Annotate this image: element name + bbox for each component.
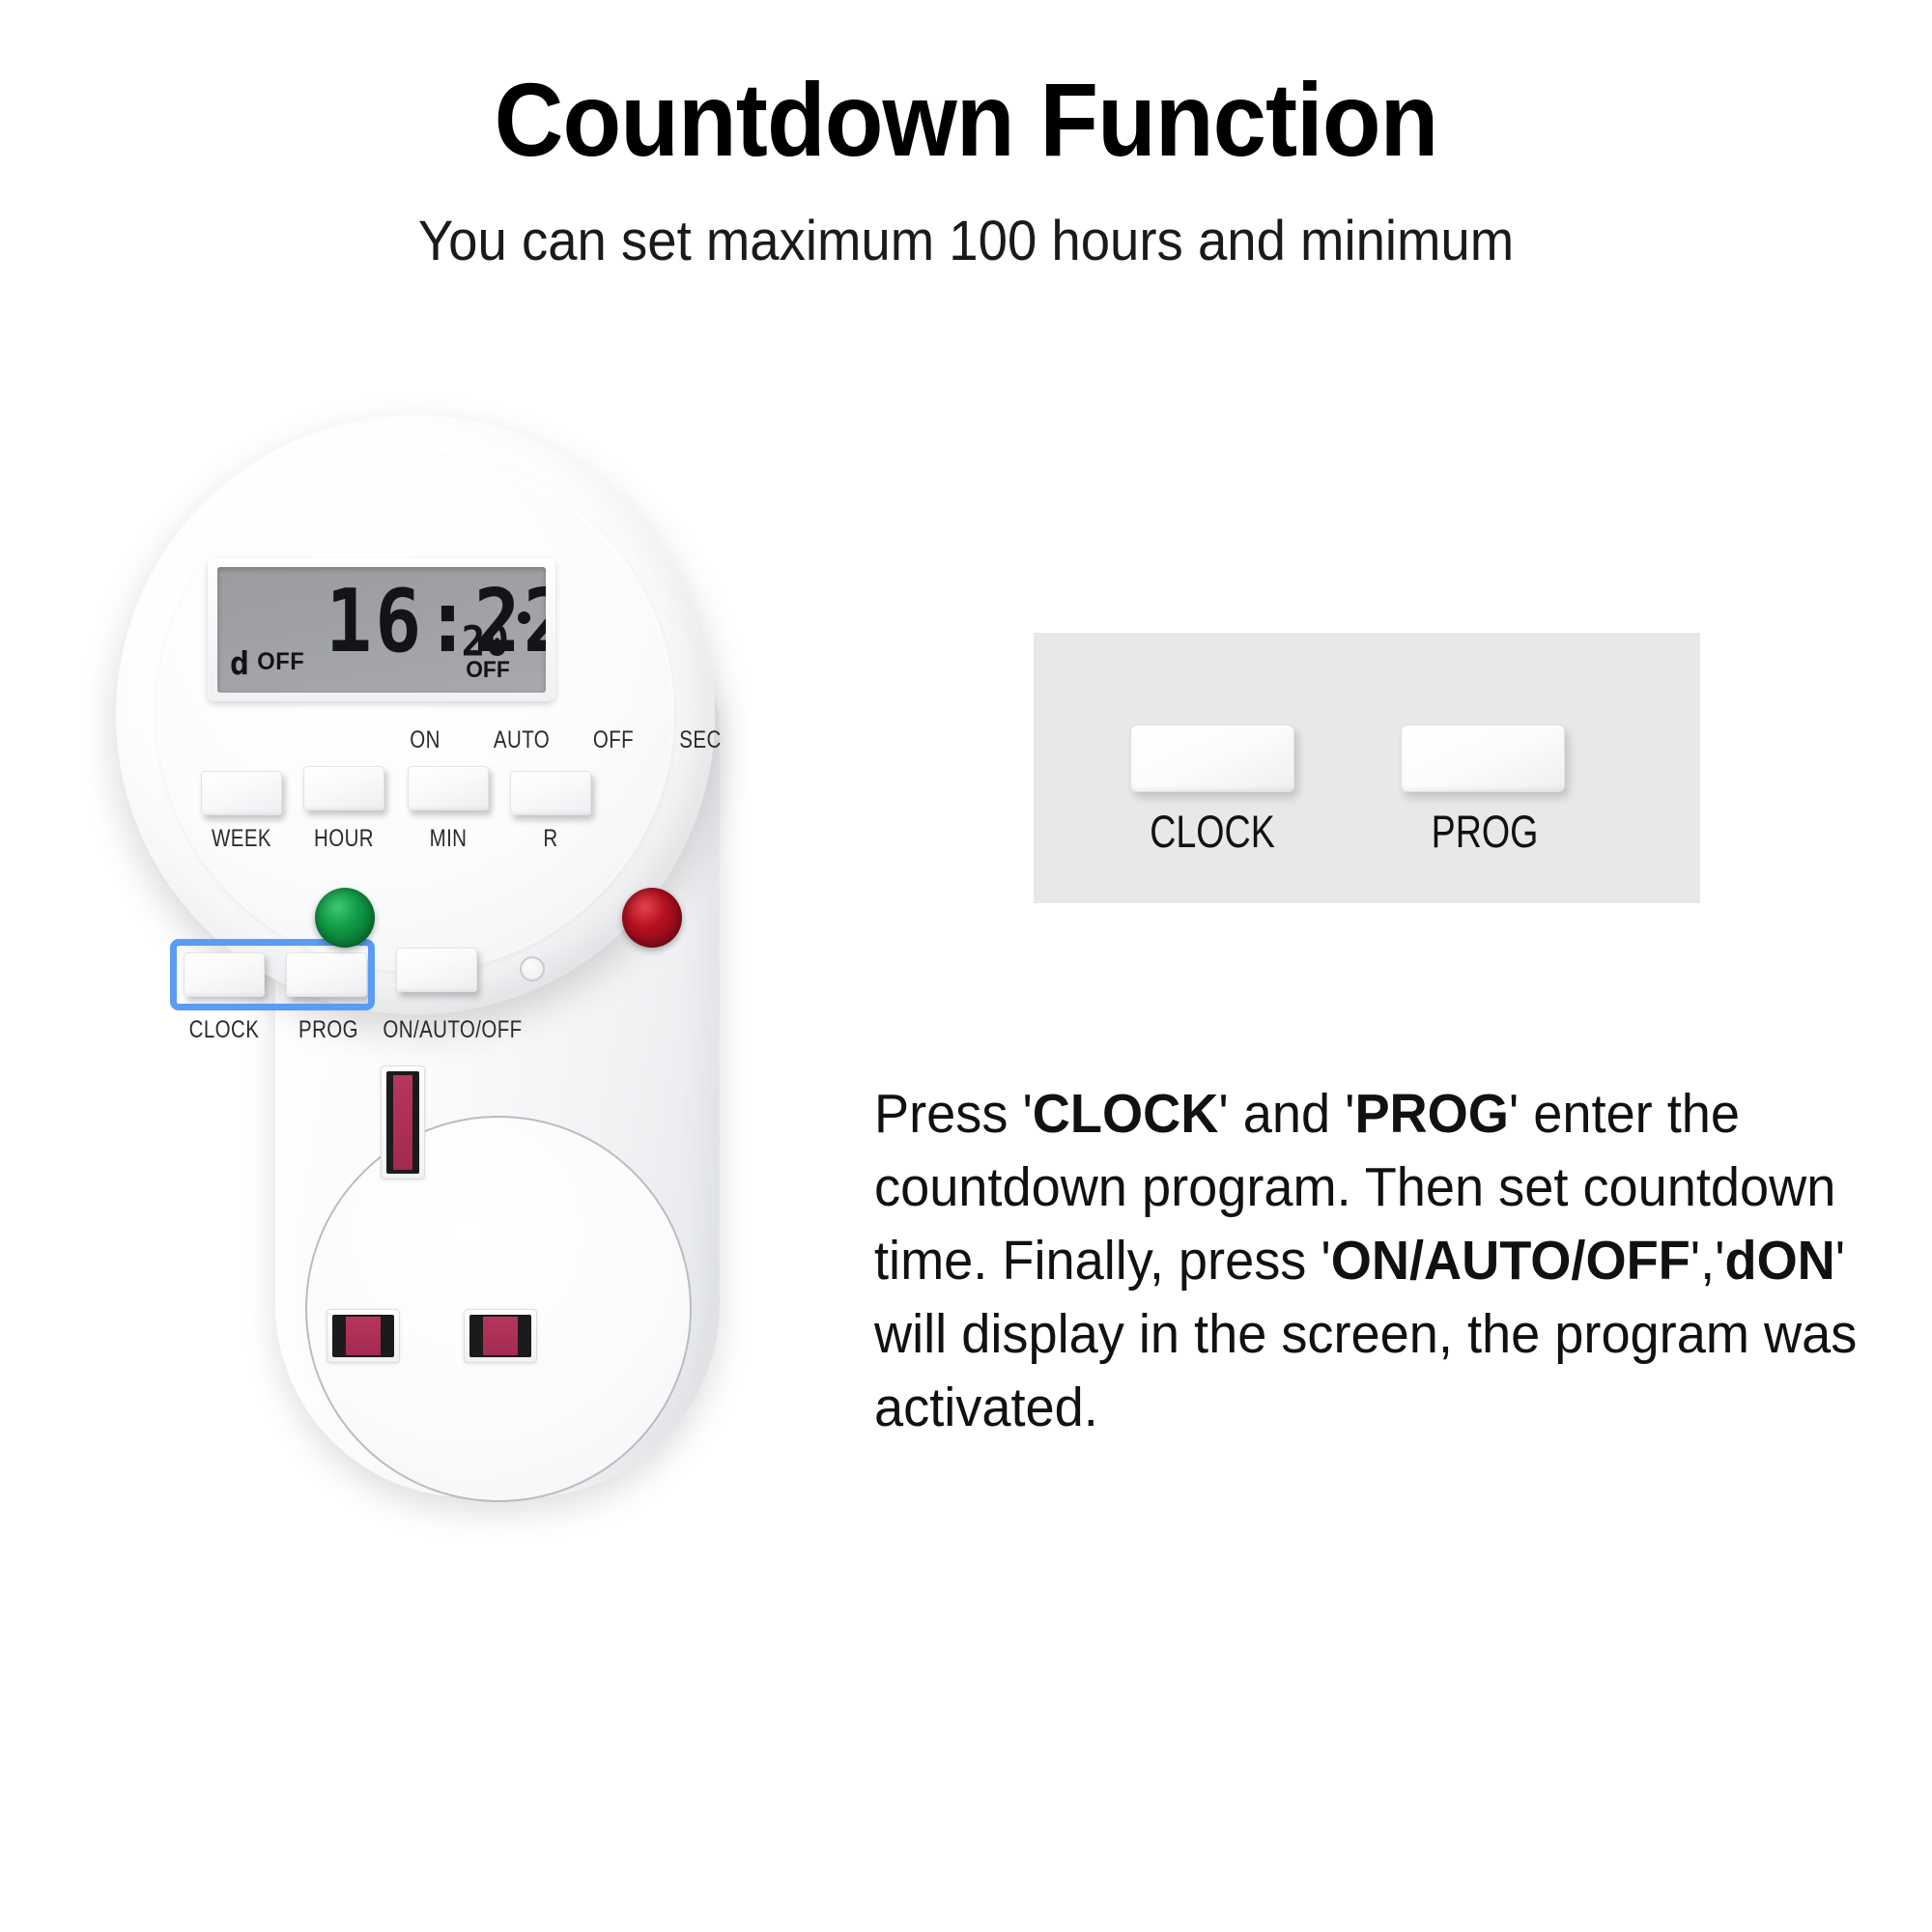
device-label-prog: PROG: [284, 1016, 373, 1044]
socket-live-pin-slot: [327, 1309, 400, 1363]
body-text-g: ',': [1690, 1230, 1725, 1292]
callout-button-clock[interactable]: [1130, 724, 1294, 792]
device-label-clock: CLOCK: [180, 1016, 269, 1044]
device-label-r: R: [507, 825, 594, 853]
body-emphasis-prog: PROG: [1354, 1083, 1508, 1145]
instruction-paragraph: Press 'CLOCK' and 'PROG' enter the count…: [874, 1077, 1875, 1444]
socket-earth-pin-slot: [381, 1065, 425, 1179]
lcd-frame: d OFF 16:22 20 OFF: [208, 558, 555, 701]
body-emphasis-on-auto-off: ON/AUTO/OFF: [1331, 1230, 1690, 1292]
device-label-auto: AUTO: [470, 726, 574, 754]
device-button-r[interactable]: [510, 771, 591, 815]
callout-label-clock: CLOCK: [1123, 805, 1301, 858]
device-label-on-auto-off: ON/AUTO/OFF: [380, 1016, 526, 1044]
device-label-min: MIN: [405, 825, 492, 853]
body-text-c: ' and ': [1218, 1083, 1354, 1145]
device-button-min[interactable]: [408, 766, 489, 810]
device-label-hour: HOUR: [300, 825, 387, 853]
page-title: Countdown Function: [77, 68, 1855, 172]
callout-button-prog[interactable]: [1401, 724, 1565, 792]
device-head-inner: [156, 454, 674, 972]
device-button-on-auto-off[interactable]: [396, 948, 477, 992]
lcd-screen: d OFF 16:22 20 OFF: [217, 567, 546, 693]
device-button-week[interactable]: [201, 771, 282, 815]
lcd-mode-left: OFF: [257, 648, 304, 676]
header: Countdown Function You can set maximum 1…: [0, 0, 1932, 272]
lcd-mode-right: OFF: [466, 657, 510, 684]
body-text-a: Press ': [874, 1083, 1033, 1145]
device-label-week: WEEK: [198, 825, 285, 853]
socket-neutral-pin-slot: [464, 1309, 537, 1363]
device-button-hour[interactable]: [303, 766, 384, 810]
callout-panel: CLOCK PROG: [1034, 633, 1700, 903]
body-emphasis-don: dON: [1724, 1230, 1834, 1292]
lcd-d-icon: d: [230, 650, 248, 679]
device-button-prog[interactable]: [286, 952, 367, 997]
red-led-indicator-icon: [622, 888, 682, 948]
device-label-sec: SEC: [653, 726, 748, 754]
body-emphasis-clock: CLOCK: [1033, 1083, 1219, 1145]
lcd-status-dot-icon: [518, 611, 530, 624]
device-label-off: OFF: [566, 726, 661, 754]
page-subtitle: You can set maximum 100 hours and minimu…: [58, 211, 1874, 272]
callout-label-prog: PROG: [1396, 805, 1574, 858]
green-led-indicator-icon: [315, 888, 375, 948]
lcd-time-value: 16:22: [326, 579, 546, 666]
device-button-clock[interactable]: [184, 952, 265, 997]
device-reset-hole-icon[interactable]: [520, 956, 545, 981]
device-label-on: ON: [382, 726, 469, 754]
timer-device-illustration: d OFF 16:22 20 OFF ON AUTO OFF SEC WEEK …: [116, 415, 773, 1507]
